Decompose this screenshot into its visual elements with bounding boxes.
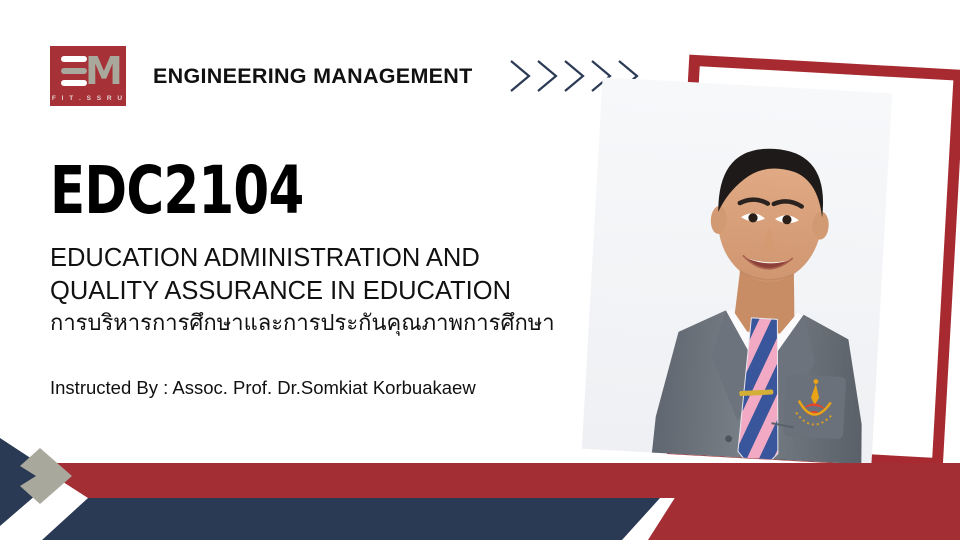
- red-bottom-right-shape: [648, 474, 960, 540]
- course-title-en: EDUCATION ADMINISTRATION AND QUALITY ASS…: [50, 242, 511, 308]
- presentation-slide: M F I T . S S R U ENGINEERING MANAGEMENT…: [0, 0, 960, 540]
- navy-band-shape: [42, 498, 660, 540]
- slide-header: M F I T . S S R U ENGINEERING MANAGEMENT: [50, 46, 642, 106]
- logo-sub-label: F I T . S S R U: [50, 95, 126, 102]
- logo-e-bars-icon: [61, 56, 87, 86]
- header-title: ENGINEERING MANAGEMENT: [153, 64, 473, 89]
- logo-m-letter: M: [85, 52, 122, 90]
- chevron-right-icon: [509, 59, 534, 93]
- portrait-area: [570, 0, 960, 500]
- em-logo: M F I T . S S R U: [50, 46, 126, 106]
- course-title-th: การบริหารการศึกษาและการประกันคุณภาพการศึ…: [50, 308, 555, 338]
- portrait-photo: [627, 116, 892, 465]
- course-title-en-line1: EDUCATION ADMINISTRATION AND: [50, 242, 511, 275]
- instructor-line: Instructed By : Assoc. Prof. Dr.Somkiat …: [50, 377, 476, 399]
- portrait-photo-panel: [582, 77, 892, 465]
- course-code: EDC2104: [50, 158, 304, 224]
- course-title-en-line2: QUALITY ASSURANCE IN EDUCATION: [50, 275, 511, 308]
- footer-decoration: [0, 430, 960, 540]
- chevron-right-icon: [536, 59, 561, 93]
